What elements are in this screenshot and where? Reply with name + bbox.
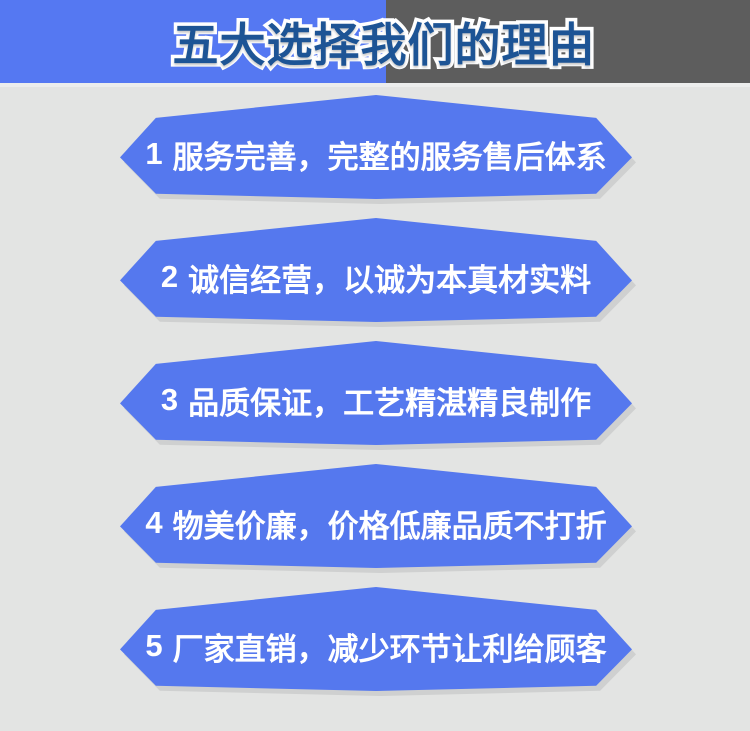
banner-text: 2 诚信经营，以诚为本真材实料 xyxy=(120,218,632,322)
reason-number: 2 xyxy=(161,259,178,295)
list-item: 4 物美价廉，价格低廉品质不打折 xyxy=(0,456,750,578)
reason-number: 3 xyxy=(161,382,178,418)
reason-banner-4: 4 物美价廉，价格低廉品质不打折 xyxy=(120,464,632,568)
reason-banner-1: 1 服务完善，完整的服务售后体系 xyxy=(120,95,632,199)
promo-poster: 五大选择我们的理由 1 服务完善，完整的服务售后体系 2 诚信经营，以诚为本真材… xyxy=(0,0,750,731)
banner-text: 3 品质保证，工艺精湛精良制作 xyxy=(120,341,632,445)
reason-number: 5 xyxy=(145,628,162,664)
reason-number: 1 xyxy=(145,136,162,172)
list-item: 3 品质保证，工艺精湛精良制作 xyxy=(0,333,750,455)
page-title: 五大选择我们的理由 xyxy=(0,0,750,83)
list-item: 2 诚信经营，以诚为本真材实料 xyxy=(0,210,750,332)
banner-text: 4 物美价廉，价格低廉品质不打折 xyxy=(120,464,632,568)
reason-label: 服务完善，完整的服务售后体系 xyxy=(173,132,607,177)
banner-text: 1 服务完善，完整的服务售后体系 xyxy=(120,95,632,199)
banner-text: 5 厂家直销，减少环节让利给顾客 xyxy=(120,587,632,691)
list-item: 1 服务完善，完整的服务售后体系 xyxy=(0,87,750,209)
header-banner: 五大选择我们的理由 xyxy=(0,0,750,83)
reasons-list: 1 服务完善，完整的服务售后体系 2 诚信经营，以诚为本真材实料 3 xyxy=(0,87,750,731)
reason-label: 品质保证，工艺精湛精良制作 xyxy=(188,378,591,423)
reason-banner-3: 3 品质保证，工艺精湛精良制作 xyxy=(120,341,632,445)
reason-banner-2: 2 诚信经营，以诚为本真材实料 xyxy=(120,218,632,322)
reason-label: 诚信经营，以诚为本真材实料 xyxy=(188,255,591,300)
reason-banner-5: 5 厂家直销，减少环节让利给顾客 xyxy=(120,587,632,691)
list-item: 5 厂家直销，减少环节让利给顾客 xyxy=(0,579,750,701)
reason-label: 厂家直销，减少环节让利给顾客 xyxy=(173,624,607,669)
reason-number: 4 xyxy=(145,505,162,541)
reason-label: 物美价廉，价格低廉品质不打折 xyxy=(173,501,607,546)
